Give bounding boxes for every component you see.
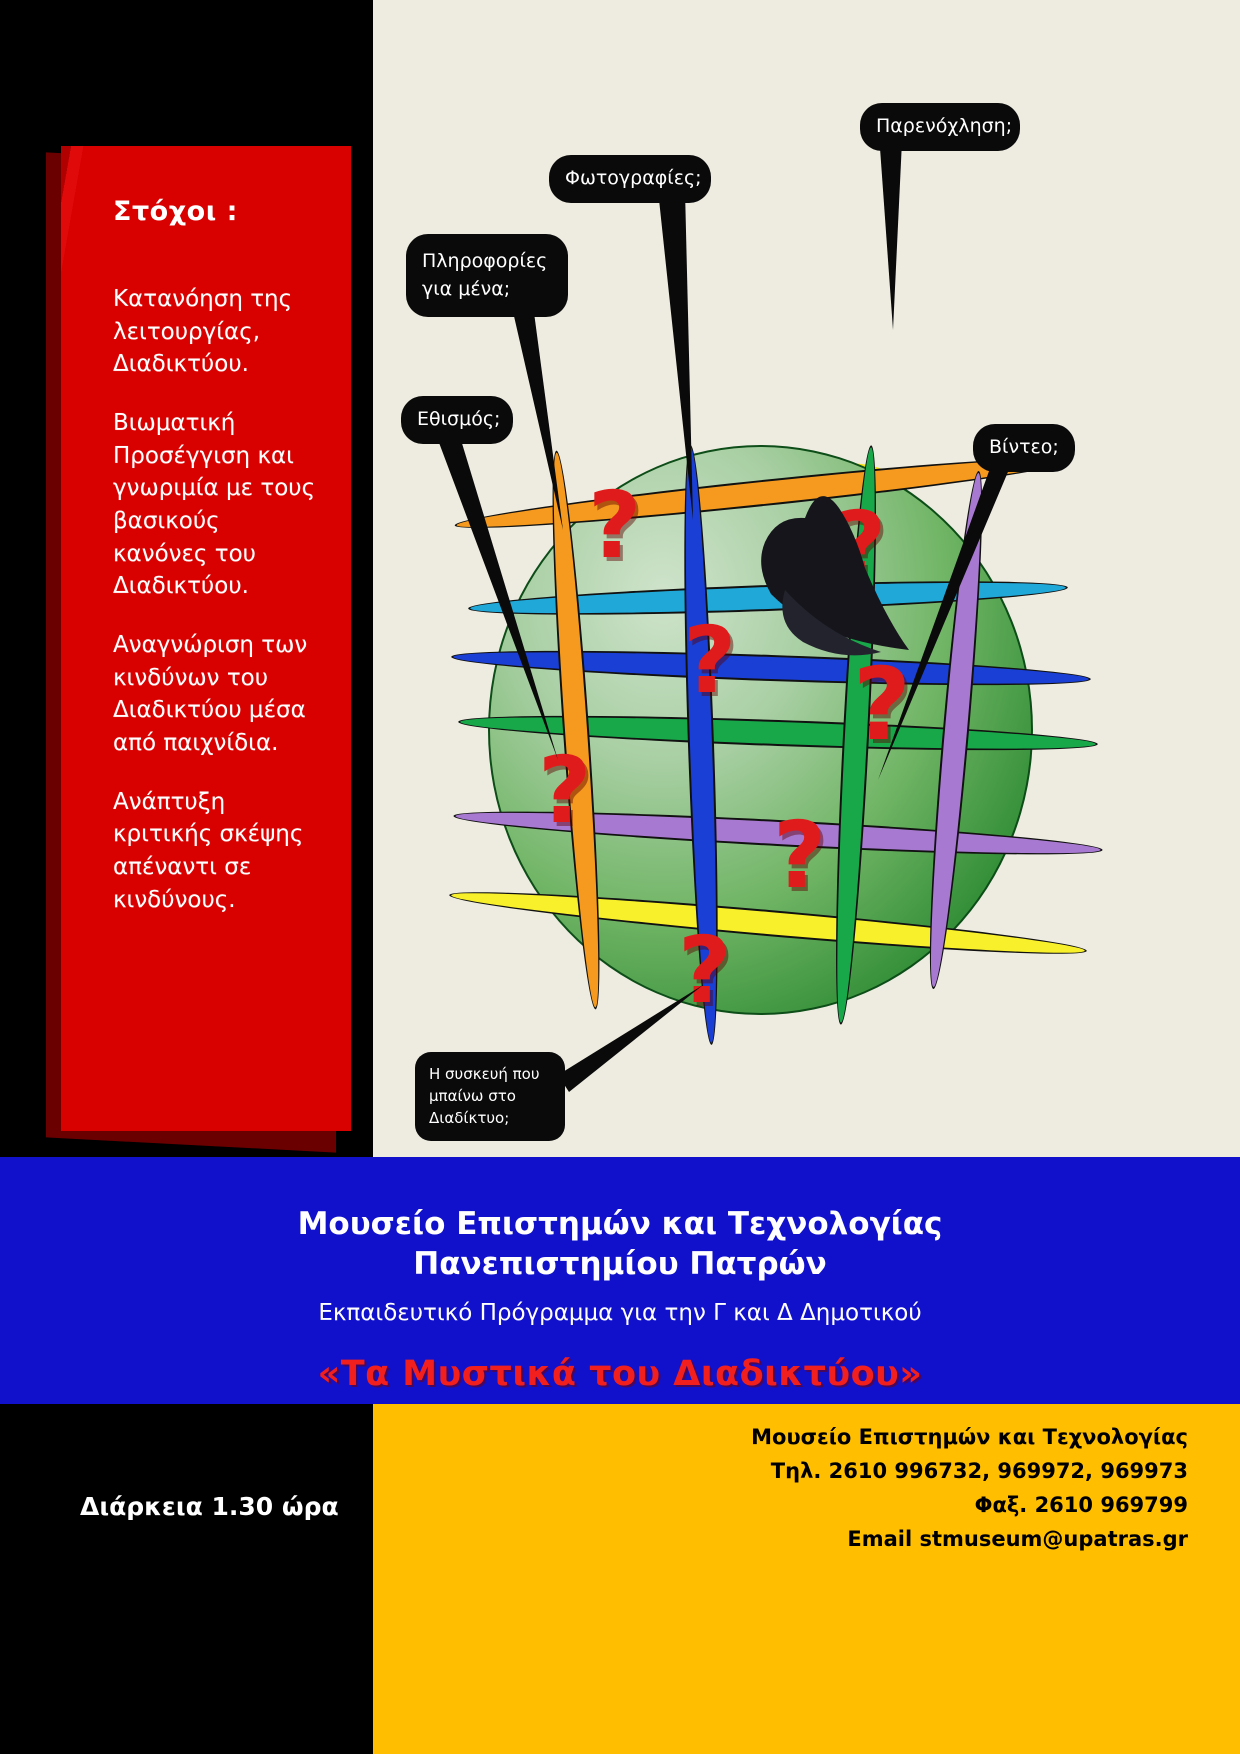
objectives-title: Στόχοι : (113, 196, 321, 227)
illustration-stage: ? ? ? ? ? ? ? Παρενόχληση; Φωτογραφίες; … (373, 0, 1240, 1157)
objective-item-3: Αναγνώριση των κινδύνων του Διαδικτύου μ… (113, 629, 321, 760)
bubble-fotografies[interactable]: Φωτογραφίες; (549, 155, 711, 203)
tail-vinteo (878, 460, 1013, 780)
tail-parenoxlisi (878, 120, 903, 330)
museum-name-line1: Μουσείο Επιστημών και Τεχνολογίας (0, 1205, 1240, 1245)
contact-line-1: Μουσείο Επιστημών και Τεχνολογίας (373, 1420, 1188, 1454)
museum-name-line2: Πανεπιστημίου Πατρών (0, 1245, 1240, 1285)
bubble-parenoxlisi[interactable]: Παρενόχληση; (860, 103, 1020, 151)
poster-root: ? ? ? ? ? ? ? Παρενόχληση; Φωτογραφίες; … (0, 0, 1240, 1754)
objective-item-4: Ανάπτυξη κριτικής σκέψης απέναντι σε κιν… (113, 786, 321, 917)
contact-line-3: Φαξ. 2610 969799 (373, 1488, 1188, 1522)
contact-line-4[interactable]: Email stmuseum@upatras.gr (373, 1522, 1188, 1556)
duration-block: Διάρκεια 1.30 ώρα (0, 1404, 373, 1754)
tail-ethismos (438, 440, 558, 760)
tail-syskevi (558, 985, 703, 1092)
bubble-ethismos[interactable]: Εθισμός; (401, 396, 513, 444)
museum-banner: Μουσείο Επιστημών και Τεχνολογίας Πανεπι… (0, 1157, 1240, 1404)
tail-plirofories (508, 290, 563, 530)
objectives-panel: Στόχοι : Κατανόηση της λειτουργίας, Διαδ… (61, 146, 351, 1131)
bubble-syskevi[interactable]: Η συσκευή που μπαίνω στο Διαδίκτυο; (415, 1052, 565, 1141)
objective-item-2: Βιωματική Προσέγγιση και γνωριμία με του… (113, 407, 321, 603)
contact-line-2: Τηλ. 2610 996732, 969972, 969973 (373, 1454, 1188, 1488)
bubble-plirofories[interactable]: Πληροφορίες για μένα; (406, 234, 568, 317)
program-subtitle: Εκπαιδευτικό Πρόγραμμα για την Γ και Δ Δ… (0, 1300, 1240, 1326)
contact-block: Μουσείο Επιστημών και Τεχνολογίας Τηλ. 2… (373, 1404, 1240, 1754)
program-title: «Τα Μυστικά του Διαδικτύου» (0, 1354, 1240, 1394)
duration-text: Διάρκεια 1.30 ώρα (80, 1492, 339, 1521)
tail-fotografies (658, 190, 693, 520)
bubble-vinteo[interactable]: Βίντεο; (973, 424, 1075, 472)
objective-item-1: Κατανόηση της λειτουργίας, Διαδικτύου. (113, 283, 321, 381)
bubble-tails (373, 0, 1240, 1157)
